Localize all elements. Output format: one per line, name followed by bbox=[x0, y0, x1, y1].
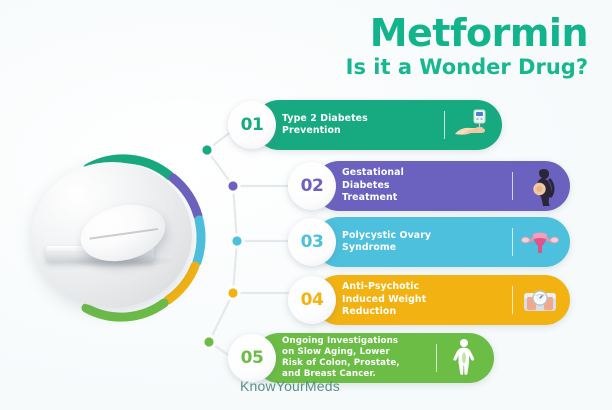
number-badge-02: 02 bbox=[288, 162, 336, 210]
brand-name: KnowYourMeds bbox=[240, 378, 340, 394]
pregnant-woman-icon bbox=[520, 166, 560, 206]
pill-bar-03[interactable]: Polycystic Ovary Syndrome bbox=[314, 217, 570, 267]
pill-bar-02[interactable]: Gestational Diabetes Treatment bbox=[314, 161, 570, 211]
list-item-04[interactable]: 04 Anti-Psychotic Induced Weight Reducti… bbox=[288, 275, 570, 325]
number-badge-03: 03 bbox=[288, 218, 336, 266]
human-body-icon bbox=[444, 338, 484, 378]
pill-divider-05 bbox=[436, 344, 437, 372]
item-label-04: Anti-Psychotic Induced Weight Reduction bbox=[342, 281, 512, 318]
number-badge-05: 05 bbox=[228, 334, 276, 382]
item-label-05: Ongoing Investigations on Slow Aging, Lo… bbox=[282, 336, 436, 381]
number-label-02: 02 bbox=[301, 176, 324, 196]
pill-bar-05[interactable]: Ongoing Investigations on Slow Aging, Lo… bbox=[254, 333, 494, 383]
list-item-02[interactable]: 02 Gestational Diabetes Treatment bbox=[288, 161, 570, 211]
item-label-01: Type 2 Diabetes Prevention bbox=[282, 113, 444, 138]
number-label-05: 05 bbox=[241, 348, 264, 368]
pill-bar-04[interactable]: Anti-Psychotic Induced Weight Reduction bbox=[314, 275, 570, 325]
number-label-03: 03 bbox=[301, 232, 324, 252]
pill-divider-03 bbox=[512, 228, 513, 256]
infographic-canvas: Metformin Is it a Wonder Drug? bbox=[0, 0, 612, 410]
hand-glucose-meter-icon bbox=[452, 105, 492, 145]
number-label-01: 01 bbox=[241, 115, 264, 135]
title-block: Metformin Is it a Wonder Drug? bbox=[346, 14, 588, 79]
item-label-03: Polycystic Ovary Syndrome bbox=[342, 230, 512, 255]
weight-scale-icon bbox=[520, 280, 560, 320]
page-subtitle: Is it a Wonder Drug? bbox=[346, 56, 588, 79]
number-badge-01: 01 bbox=[228, 101, 276, 149]
pill-divider-01 bbox=[444, 111, 445, 139]
pill-divider-02 bbox=[512, 172, 513, 200]
list-item-01[interactable]: 01 Type 2 Diabetes Prevention bbox=[228, 100, 502, 150]
number-badge-04: 04 bbox=[288, 276, 336, 324]
page-title: Metformin bbox=[346, 14, 588, 53]
pill-divider-04 bbox=[512, 286, 513, 314]
list-item-03[interactable]: 03 Polycystic Ovary Syndrome bbox=[288, 217, 570, 267]
uterus-ovaries-icon bbox=[520, 222, 560, 262]
item-label-02: Gestational Diabetes Treatment bbox=[342, 167, 512, 204]
number-label-04: 04 bbox=[301, 290, 324, 310]
pill-bar-01[interactable]: Type 2 Diabetes Prevention bbox=[254, 100, 502, 150]
list-item-05[interactable]: 05 Ongoing Investigations on Slow Aging,… bbox=[228, 333, 494, 383]
